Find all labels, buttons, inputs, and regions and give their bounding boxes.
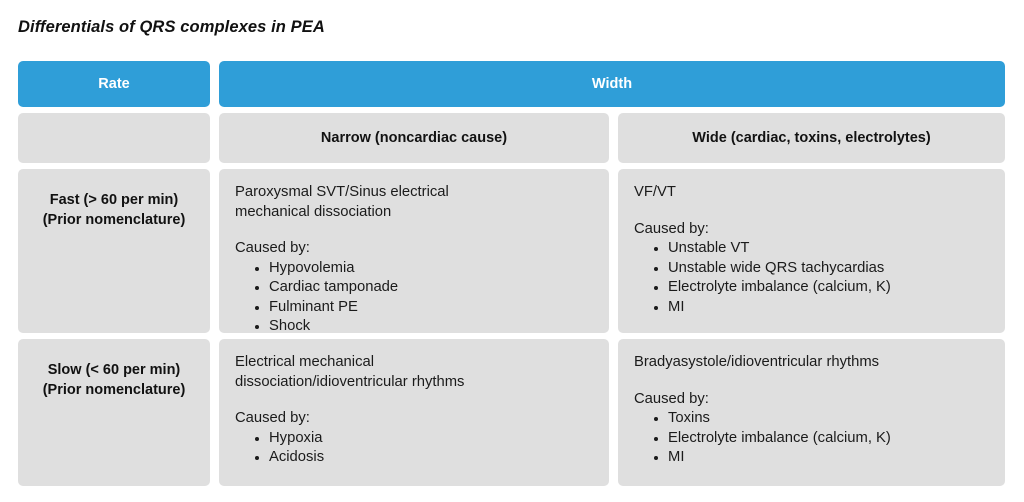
list-item: Hypoxia (269, 429, 593, 449)
header-label-rate: Rate (98, 76, 129, 92)
page-title: Differentials of QRS complexes in PEA (18, 18, 325, 37)
lead-text-fast-wide: VF/VT (634, 183, 989, 203)
cause-list-slow-narrow: Hypoxia Acidosis (235, 429, 593, 468)
caused-by-label-fast-wide: Caused by: (634, 220, 989, 240)
differentials-table: Rate Width Narrow (noncardiac cause) Wid… (18, 61, 1005, 486)
list-item: MI (668, 298, 989, 318)
table-header-row: Rate Width (18, 61, 1005, 107)
table-subheader-row: Narrow (noncardiac cause) Wide (cardiac,… (18, 113, 1005, 163)
rate-main-fast: Fast (> 60 per min) (50, 192, 179, 208)
header-cell-rate: Rate (18, 61, 210, 107)
lead-text-slow-narrow: Electrical mechanical dissociation/idiov… (235, 353, 593, 392)
subheader-cell-blank (18, 113, 210, 163)
subheader-label-narrow: Narrow (noncardiac cause) (321, 130, 507, 146)
header-cell-width: Width (219, 61, 1005, 107)
rate-label-fast: Fast (> 60 per min) (Prior nomenclature) (43, 191, 186, 230)
list-item: Cardiac tamponade (269, 278, 593, 298)
cause-list-fast-narrow: Hypovolemia Cardiac tamponade Fulminant … (235, 259, 593, 337)
rate-cell-fast: Fast (> 60 per min) (Prior nomenclature) (18, 169, 210, 333)
rate-sub-fast: (Prior nomenclature) (43, 211, 186, 231)
lead-text-slow-wide: Bradyasystole/idioventricular rhythms (634, 353, 989, 373)
subheader-label-wide: Wide (cardiac, toxins, electrolytes) (692, 130, 930, 146)
list-item: Electrolyte imbalance (calcium, K) (668, 429, 989, 449)
list-item: Toxins (668, 409, 989, 429)
cell-slow-narrow: Electrical mechanical dissociation/idiov… (219, 339, 609, 486)
figure-container: Differentials of QRS complexes in PEA Ra… (0, 0, 1024, 502)
list-item: Fulminant PE (269, 298, 593, 318)
subheader-cell-wide: Wide (cardiac, toxins, electrolytes) (618, 113, 1005, 163)
list-item: Shock (269, 317, 593, 337)
list-item: Hypovolemia (269, 259, 593, 279)
list-item: Unstable wide QRS tachycardias (668, 259, 989, 279)
cause-list-fast-wide: Unstable VT Unstable wide QRS tachycardi… (634, 239, 989, 317)
caused-by-label-slow-narrow: Caused by: (235, 409, 593, 429)
cause-list-slow-wide: Toxins Electrolyte imbalance (calcium, K… (634, 409, 989, 468)
cell-fast-narrow: Paroxysmal SVT/Sinus electrical mechanic… (219, 169, 609, 333)
cell-slow-wide: Bradyasystole/idioventricular rhythms Ca… (618, 339, 1005, 486)
list-item: MI (668, 448, 989, 468)
header-label-width: Width (592, 76, 632, 92)
cell-fast-wide: VF/VT Caused by: Unstable VT Unstable wi… (618, 169, 1005, 333)
rate-cell-slow: Slow (< 60 per min) (Prior nomenclature) (18, 339, 210, 486)
table-row: Fast (> 60 per min) (Prior nomenclature)… (18, 169, 1005, 333)
list-item: Electrolyte imbalance (calcium, K) (668, 278, 989, 298)
rate-sub-slow: (Prior nomenclature) (43, 381, 186, 401)
rate-label-slow: Slow (< 60 per min) (Prior nomenclature) (43, 361, 186, 400)
table-row: Slow (< 60 per min) (Prior nomenclature)… (18, 339, 1005, 486)
list-item: Unstable VT (668, 239, 989, 259)
rate-main-slow: Slow (< 60 per min) (48, 362, 181, 378)
lead-text-fast-narrow: Paroxysmal SVT/Sinus electrical mechanic… (235, 183, 593, 222)
caused-by-label-fast-narrow: Caused by: (235, 239, 593, 259)
caused-by-label-slow-wide: Caused by: (634, 390, 989, 410)
list-item: Acidosis (269, 448, 593, 468)
subheader-cell-narrow: Narrow (noncardiac cause) (219, 113, 609, 163)
